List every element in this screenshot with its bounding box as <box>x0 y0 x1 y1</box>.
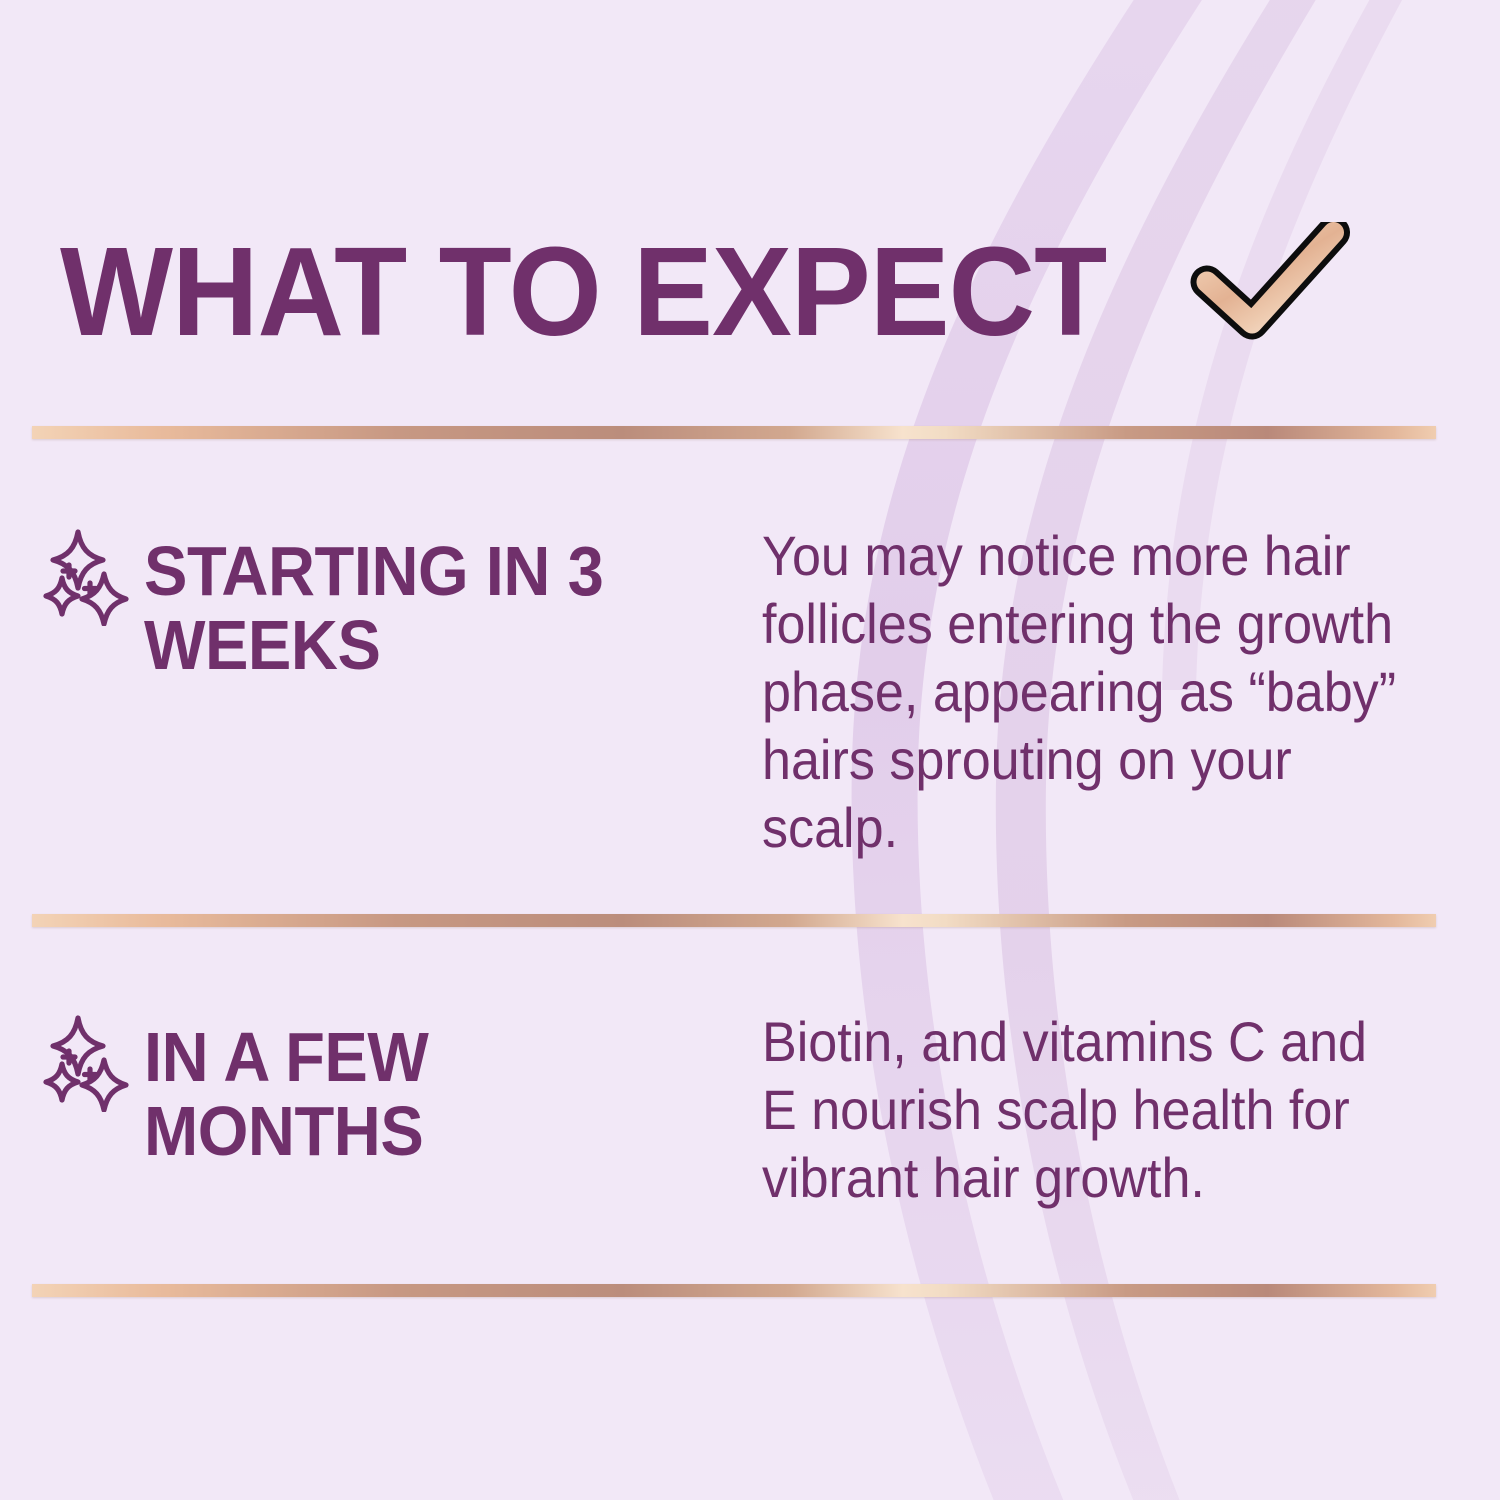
heading-column-months: IN A FEW MONTHS <box>144 1002 754 1168</box>
divider-bottom <box>32 1284 1436 1297</box>
row-heading-weeks: STARTING IN 3 WEEKS <box>144 534 711 682</box>
header-row: WHAT TO EXPECT <box>60 222 1450 362</box>
divider-middle <box>32 914 1436 927</box>
row-body-weeks: You may notice more hair follicles enter… <box>762 522 1402 862</box>
divider-top <box>32 426 1436 439</box>
body-column-weeks: You may notice more hair follicles enter… <box>754 516 1450 862</box>
row-heading-months: IN A FEW MONTHS <box>144 1020 711 1168</box>
body-column-months: Biotin, and vitamins C and E nourish sca… <box>754 1002 1450 1212</box>
sparkles-icon <box>40 516 144 631</box>
infographic-page: WHAT TO EXPECT <box>0 0 1500 1500</box>
page-title: WHAT TO EXPECT <box>60 229 1106 355</box>
row-body-months: Biotin, and vitamins C and E nourish sca… <box>762 1008 1402 1212</box>
sparkles-icon <box>40 1002 144 1117</box>
expectation-row-weeks: STARTING IN 3 WEEKS You may notice more … <box>40 516 1450 862</box>
expectation-row-months: IN A FEW MONTHS Biotin, and vitamins C a… <box>40 1002 1450 1212</box>
check-mark-icon <box>1183 222 1351 354</box>
heading-column-weeks: STARTING IN 3 WEEKS <box>144 516 754 682</box>
